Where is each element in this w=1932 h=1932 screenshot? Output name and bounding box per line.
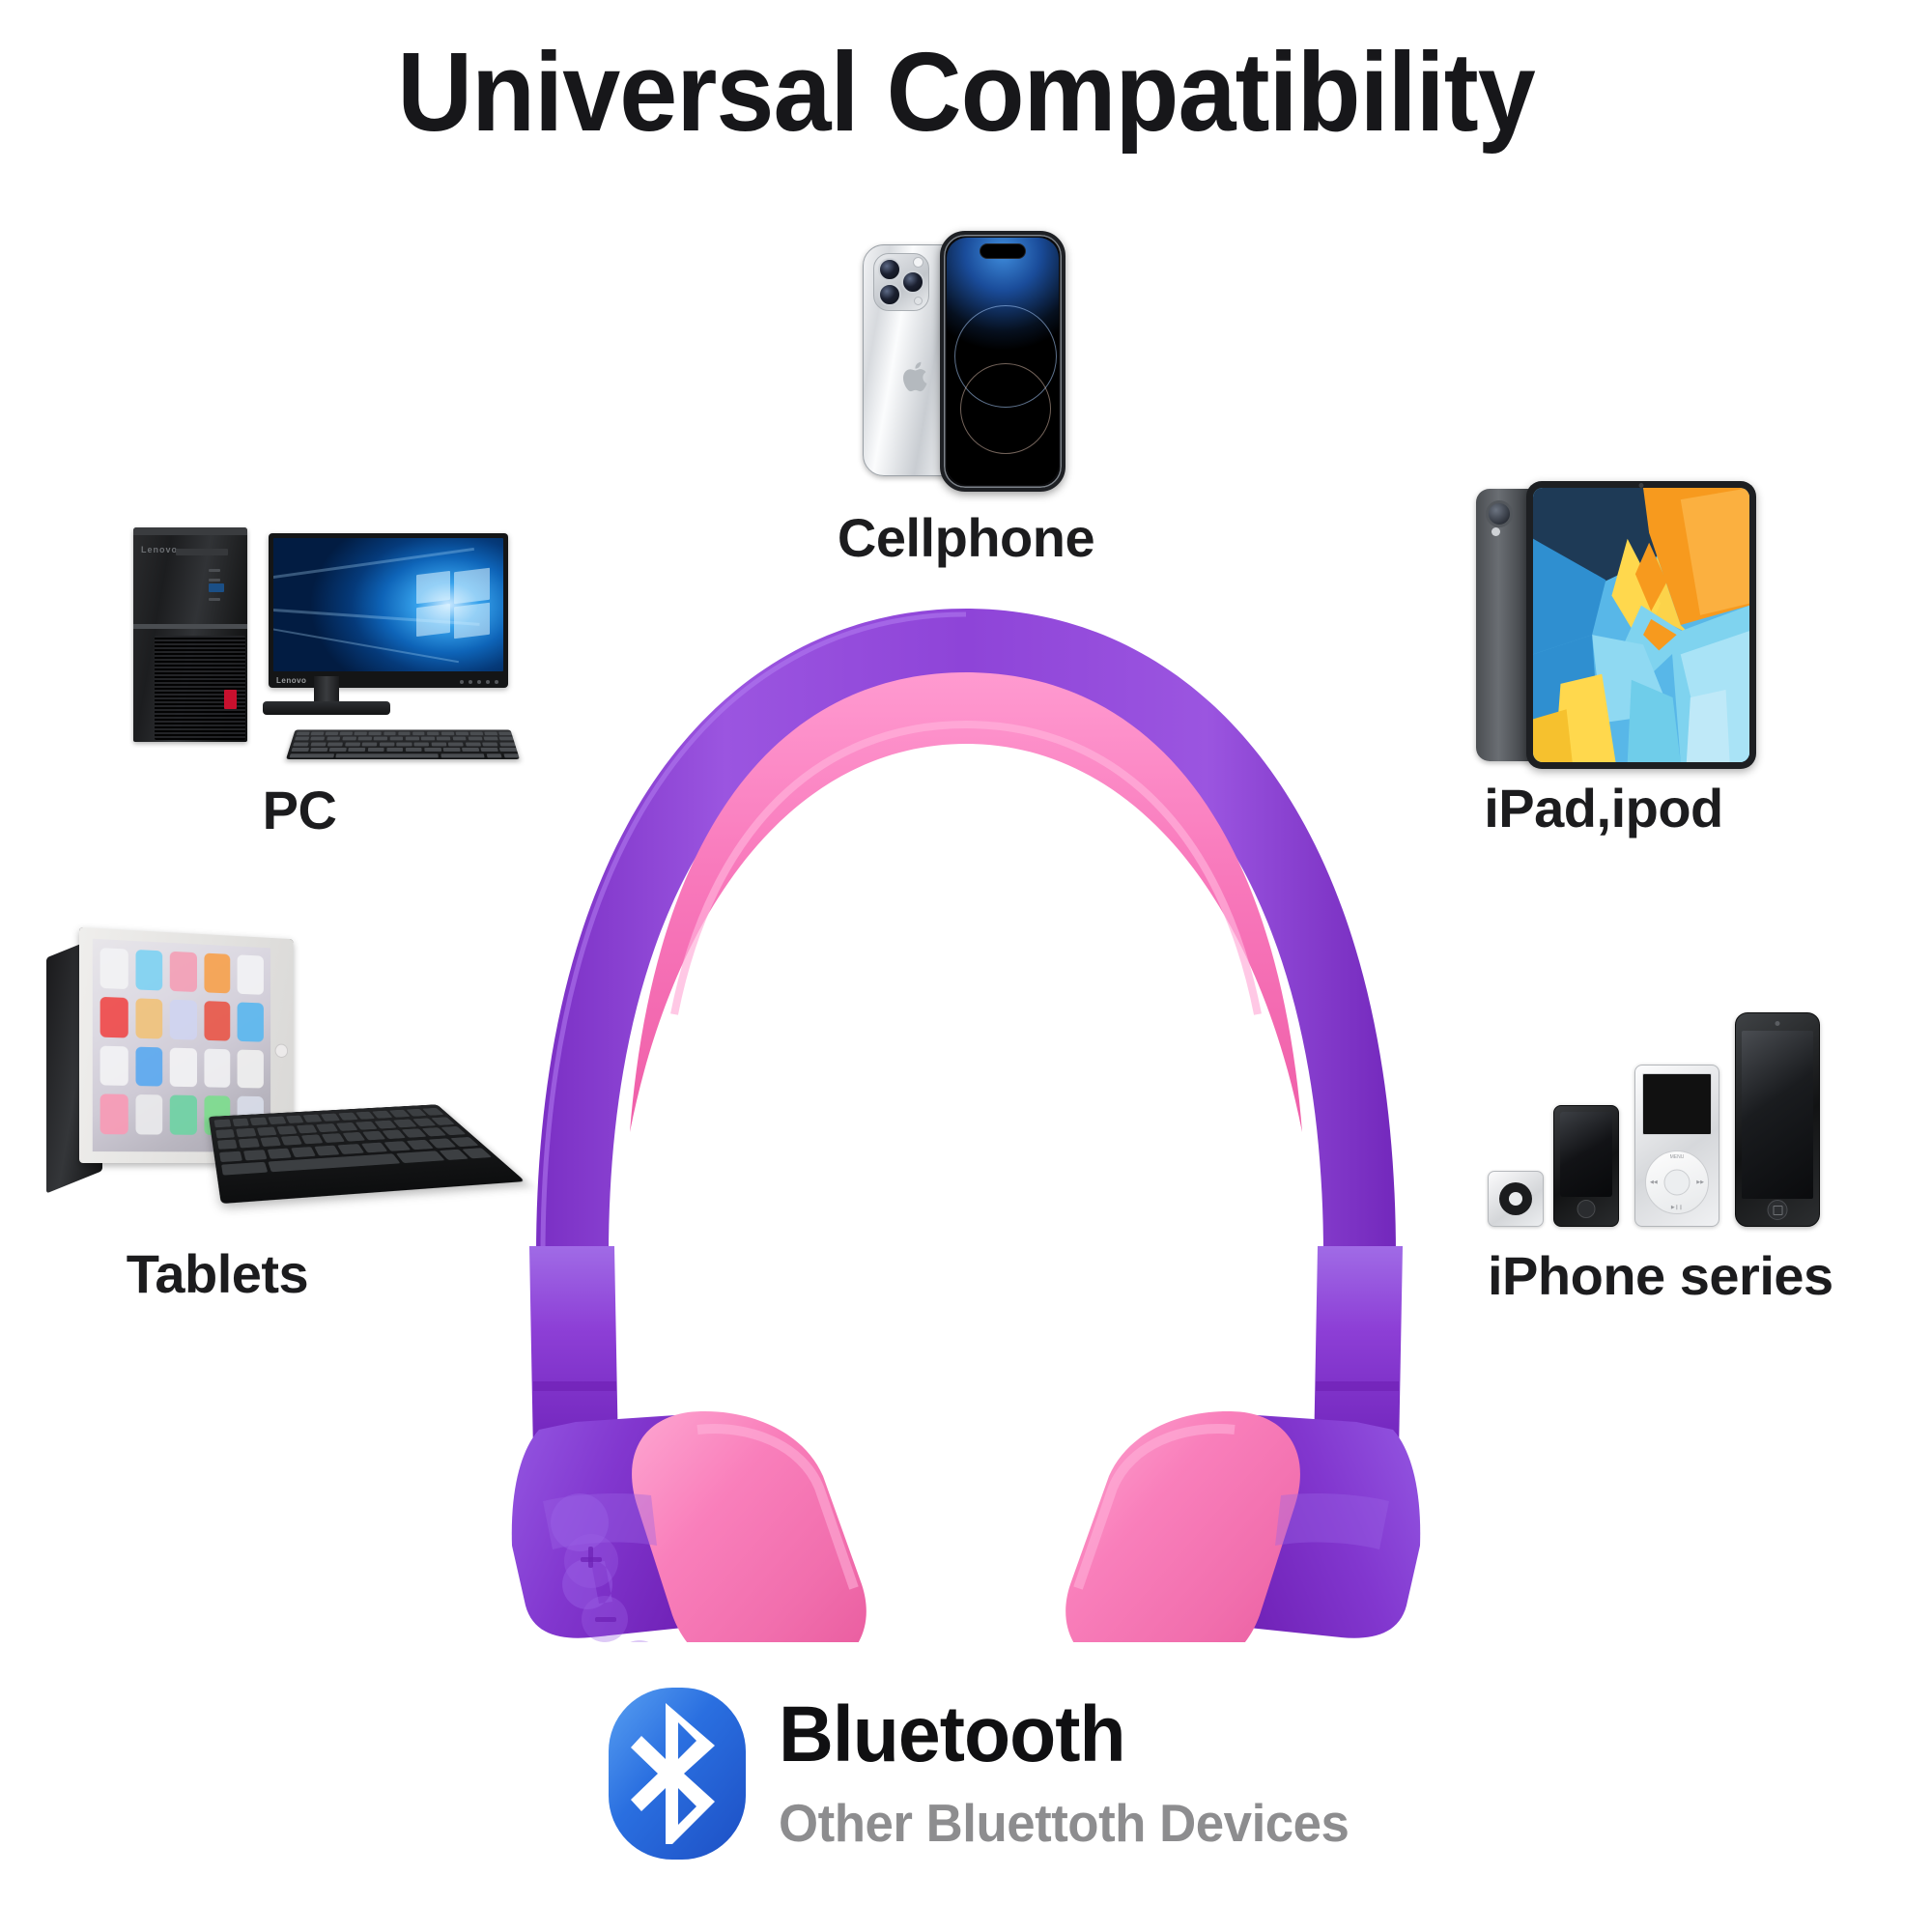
optical-drive-icon bbox=[176, 549, 228, 555]
ipod-shuffle-icon bbox=[1488, 1171, 1544, 1227]
monitor-icon: Lenovo bbox=[269, 533, 508, 688]
click-wheel-icon[interactable]: MENU ◀◀ ▶▶ ▶❙❙ bbox=[1645, 1151, 1709, 1214]
compatibility-infographic: Universal Compatibility Cellphone bbox=[0, 0, 1932, 1932]
dynamic-island-icon bbox=[980, 243, 1026, 259]
bluetooth-subtitle: Other Bluettoth Devices bbox=[779, 1792, 1349, 1854]
camera-lens-icon bbox=[878, 283, 901, 306]
app-icon[interactable] bbox=[135, 1094, 162, 1134]
ipod-classic-icon: MENU ◀◀ ▶▶ ▶❙❙ bbox=[1634, 1065, 1719, 1227]
tower-vent-mesh bbox=[155, 636, 245, 740]
tablet-device-image bbox=[46, 927, 442, 1236]
monitor-stand-base bbox=[263, 701, 390, 715]
app-icon[interactable] bbox=[100, 997, 128, 1037]
device-label-tablets: Tablets bbox=[58, 1242, 377, 1305]
camera-module-icon bbox=[873, 253, 929, 311]
bluetooth-title: Bluetooth bbox=[779, 1690, 1125, 1780]
monitor-brand-mark: Lenovo bbox=[276, 676, 306, 685]
home-button-icon[interactable] bbox=[275, 1043, 288, 1058]
previous-label: ◀◀ bbox=[1650, 1179, 1658, 1185]
right-earcup bbox=[1065, 1411, 1420, 1642]
ipod-touch-screen bbox=[1742, 1031, 1813, 1199]
wallpaper-arc bbox=[960, 363, 1051, 454]
app-icon[interactable] bbox=[100, 1094, 128, 1135]
monitor-screen-wallpaper bbox=[273, 538, 503, 671]
ipad-wallpaper bbox=[1533, 488, 1749, 762]
cellphone-device-image bbox=[855, 227, 1077, 497]
tower-divider bbox=[133, 624, 247, 629]
camera-lens-icon bbox=[901, 270, 924, 294]
ipad-device-image bbox=[1476, 481, 1758, 771]
bluetooth-keyboard-icon bbox=[209, 1104, 526, 1204]
apple-logo-icon bbox=[902, 359, 931, 394]
next-label: ▶▶ bbox=[1696, 1179, 1704, 1185]
camera-lens-icon bbox=[1486, 500, 1513, 527]
app-icon[interactable] bbox=[100, 948, 128, 989]
app-icon[interactable] bbox=[135, 998, 162, 1038]
ipod-classic-screen bbox=[1642, 1073, 1712, 1135]
app-icon[interactable] bbox=[170, 1095, 197, 1135]
page-title: Universal Compatibility bbox=[68, 27, 1864, 156]
front-port-strip bbox=[205, 562, 228, 626]
tower-brand-mark: Lenovo bbox=[141, 545, 178, 554]
pc-device-image: Lenovo Lenovo bbox=[133, 522, 520, 778]
iphone-front-icon bbox=[940, 231, 1065, 492]
menu-label: MENU bbox=[1670, 1154, 1685, 1160]
device-label-ipad: iPad,ipod bbox=[1420, 777, 1787, 839]
monitor-stand-neck bbox=[314, 676, 339, 703]
iphone-wallpaper bbox=[947, 238, 1059, 485]
app-icon[interactable] bbox=[204, 953, 230, 994]
app-icon[interactable] bbox=[135, 950, 162, 990]
bluetooth-block: Bluetooth Other Bluettoth Devices bbox=[607, 1686, 1341, 1879]
app-icon[interactable] bbox=[238, 954, 264, 994]
device-label-iphone-series: iPhone series bbox=[1488, 1244, 1874, 1307]
windows-logo-icon bbox=[416, 570, 490, 637]
app-icon[interactable] bbox=[204, 1048, 230, 1088]
left-earcup bbox=[512, 1411, 867, 1642]
app-icon[interactable] bbox=[170, 952, 197, 992]
bluetooth-icon bbox=[607, 1686, 748, 1861]
ipad-front-icon bbox=[1526, 481, 1756, 769]
usb-port-icon bbox=[209, 583, 224, 592]
app-icon[interactable] bbox=[135, 1046, 162, 1087]
desktop-tower-icon: Lenovo bbox=[133, 527, 247, 742]
app-icon[interactable] bbox=[170, 1047, 197, 1087]
device-label-pc: PC bbox=[169, 779, 430, 841]
app-icon[interactable] bbox=[100, 1045, 128, 1086]
ipod-nano-icon bbox=[1553, 1105, 1619, 1227]
ipod-family-image: MENU ◀◀ ▶▶ ▶❙❙ bbox=[1488, 985, 1874, 1227]
app-icon[interactable] bbox=[238, 1002, 264, 1041]
click-wheel-icon bbox=[1499, 1182, 1532, 1215]
home-button-icon[interactable] bbox=[1768, 1200, 1788, 1220]
ipod-touch-icon bbox=[1735, 1012, 1820, 1227]
playpause-label: ▶❙❙ bbox=[1671, 1205, 1683, 1210]
front-camera-icon bbox=[1776, 1021, 1780, 1026]
camera-lens-icon bbox=[878, 258, 901, 281]
app-icon[interactable] bbox=[238, 1049, 264, 1089]
headphones-product-image bbox=[483, 580, 1449, 1642]
flash-icon bbox=[913, 257, 923, 268]
app-icon[interactable] bbox=[204, 1001, 230, 1040]
app-icon[interactable] bbox=[170, 999, 197, 1039]
tower-badge-icon bbox=[224, 690, 237, 709]
ipod-nano-screen bbox=[1560, 1112, 1612, 1197]
flash-icon bbox=[1492, 527, 1500, 536]
tower-top-panel bbox=[133, 527, 247, 535]
home-button-icon[interactable] bbox=[1577, 1200, 1596, 1218]
lidar-sensor-icon bbox=[914, 297, 923, 305]
